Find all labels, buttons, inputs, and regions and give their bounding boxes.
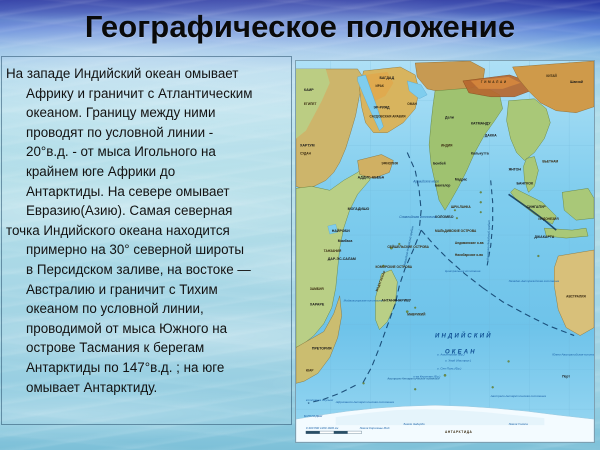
- map-scale-label: 0 400 800 1200 1600 км: [306, 426, 338, 430]
- map-label-capital: Калькутта: [471, 152, 489, 156]
- body-text-box: На западе Индийский океан омывает Африку…: [1, 56, 292, 425]
- map-label-country: ЭФИОПИЯ: [381, 161, 398, 165]
- map-label-capital: НАЙРОБИ: [332, 229, 350, 233]
- map-label-country: СУДАН: [300, 152, 312, 156]
- map-label-basin: Земля Королевы Мод: [360, 426, 390, 430]
- body-line: Евразию(Азию). Самая северная: [6, 201, 285, 221]
- map-label-basin: Африканско-Антарктическая котловина: [335, 400, 395, 404]
- indian-ocean-map-image: КАИР ЕГИПЕТ ХАРТУМ СУДАН БАГДАД ИРАК ЭР-…: [295, 60, 595, 443]
- map-label-country: Андаманские о-ва: [455, 241, 484, 245]
- map-label-country: ГИМАЛАИ: [481, 80, 508, 84]
- map-label-sea: Аравийское море: [412, 179, 439, 183]
- map-label-capital: КОЛОМБО: [435, 215, 454, 219]
- map-label-capital: БАГДАД: [379, 76, 394, 80]
- map-label-country: ИНДИЯ: [441, 144, 453, 148]
- map-label-city: Момбаса: [338, 239, 353, 243]
- map-label-country: САУДОВСКАЯ АРАВИЯ: [370, 115, 407, 119]
- map-label-country: ИНДОНЕЗИЯ: [538, 217, 559, 221]
- map-label-capital: ХАРАРЕ: [310, 303, 325, 307]
- map-label-capital: ЭР-РИЯД: [373, 106, 390, 110]
- map-label-country: Никобарские о-ва: [455, 253, 483, 257]
- map-label-capital: КАИР: [304, 88, 314, 92]
- map-label-country: АНТАРКТИДА: [445, 430, 473, 434]
- map-label-country: ВЬЕТНАМ: [542, 159, 558, 163]
- body-line: Антарктиды по 147°в.д. ; на юге: [6, 358, 285, 378]
- body-line: крайнем юге Африки до: [6, 162, 285, 182]
- map-label-ocean: ИНДИЙСКИЙ: [435, 332, 493, 340]
- body-line: проводят по условной линии -: [6, 123, 285, 143]
- map-label-capital: Дели: [445, 116, 454, 120]
- map-label-basin: Центральная котловина: [445, 269, 481, 273]
- body-line: точка Индийского океана находится: [6, 221, 285, 241]
- body-line: океаном. Границу между ними: [6, 103, 285, 123]
- map-label-basin: Земля Эндерби: [403, 422, 425, 426]
- map-label-country: ЗАМБИЯ: [310, 287, 324, 291]
- body-line: острове Тасмания к берегам: [6, 338, 285, 358]
- body-line: проводимой от мыса Южного на: [6, 319, 285, 339]
- map-label-capital: АНТАНАНАРИВУ: [381, 299, 411, 303]
- map-label-country: ИРАК: [375, 84, 383, 88]
- map-svg: КАИР ЕГИПЕТ ХАРТУМ СУДАН БАГДАД ИРАК ЭР-…: [296, 61, 594, 442]
- map-label-capital: БАНГКОК: [517, 181, 535, 185]
- body-line: Антарктиды. На севере омывает: [6, 182, 285, 202]
- map-label-basin: Земля Уилкса: [509, 422, 529, 426]
- map-label-capital: КАТМАНДУ: [471, 122, 491, 126]
- map-label-basin: БАНГЛАДЕШ: [304, 414, 323, 418]
- page-title: Географическое положение: [0, 4, 600, 50]
- map-label-capital: ДАР-ЭС-САЛАМ: [328, 257, 356, 261]
- map-label-city: Бангалор: [435, 183, 450, 187]
- slide-root: Географическое положение На западе Индий…: [0, 0, 600, 450]
- map-label-city: Бомбей: [433, 161, 446, 165]
- map-label-capital: МОГАДИШО: [348, 207, 370, 211]
- body-line: 20°в.д. - от мыса Игольного на: [6, 142, 285, 162]
- body-line: океаном по условной линии,: [6, 299, 285, 319]
- map-label-country: ЮАР: [306, 368, 314, 372]
- map-label-country: АВСТРАЛИЯ: [566, 295, 586, 299]
- map-label-basin: о. Сен-Поль (Фр.): [437, 366, 461, 370]
- map-label-country: МАВРИКИЙ: [407, 313, 426, 317]
- map-label-capital: ПРЕТОРИЯ: [312, 346, 332, 350]
- map-label-capital: ДАККА: [485, 134, 497, 138]
- body-text: На западе Индийский океан омывает Африку…: [6, 64, 285, 397]
- body-line: На западе Индийский океан омывает: [6, 64, 285, 84]
- body-line: Австралию и граничит с Тихим: [6, 280, 285, 300]
- body-line: омывает Антарктиду.: [6, 378, 285, 398]
- map-label-country: ТАНЗАНИЯ: [324, 249, 342, 253]
- map-label-city: Перт: [562, 374, 570, 378]
- map-label-country: КОМОРСКИЕ ОСТРОВА: [375, 265, 412, 269]
- map-label-city: Мадрас: [455, 177, 467, 181]
- map-label-basin: о. Амстердам (Фр.): [437, 352, 464, 356]
- map-label-country: МАЛЬДИВСКИЕ ОСТРОВА: [435, 229, 477, 233]
- map-label-basin: Западно-Австралийская котловина: [509, 279, 560, 283]
- map-label-country: ШРИ-ЛАНКА: [451, 205, 471, 209]
- body-line: примерно на 30° северной широты: [6, 240, 285, 260]
- body-line: в Персидском заливе, на востоке —: [6, 260, 285, 280]
- map-label-country: ОМАН: [407, 102, 417, 106]
- map-label-city: Шанхай: [570, 80, 583, 84]
- map-label-basin: Мадагаскарская котловина: [344, 299, 383, 303]
- map-label-capital: ХАРТУМ: [300, 144, 315, 148]
- map-label-basin: Австрало-Антарктическая котловина: [490, 394, 547, 398]
- map-label-basin: котловина Агульяс: [306, 398, 334, 402]
- map-label-basin: о. Херд (Австрал.): [445, 358, 471, 362]
- map-label-capital: АДДИС-АБЕБА: [358, 175, 385, 179]
- map-label-capital: ДЖАКАРТА: [534, 235, 554, 239]
- map-label-capital: ЯНГОН: [509, 167, 522, 171]
- body-line: Африку и граничит с Атлантическим: [6, 84, 285, 104]
- map-label-country: КИТАЙ: [546, 74, 557, 78]
- map-label-basin: Южно-Австралийская котловина: [552, 352, 594, 356]
- map-label-sea: Сомалийская котловина: [399, 215, 436, 219]
- map-label-country: ЕГИПЕТ: [304, 102, 317, 106]
- map-label-capital: СИНГАПУР: [526, 205, 546, 209]
- map-label-ridge: Австрало-Антарктическое поднятие: [386, 376, 440, 380]
